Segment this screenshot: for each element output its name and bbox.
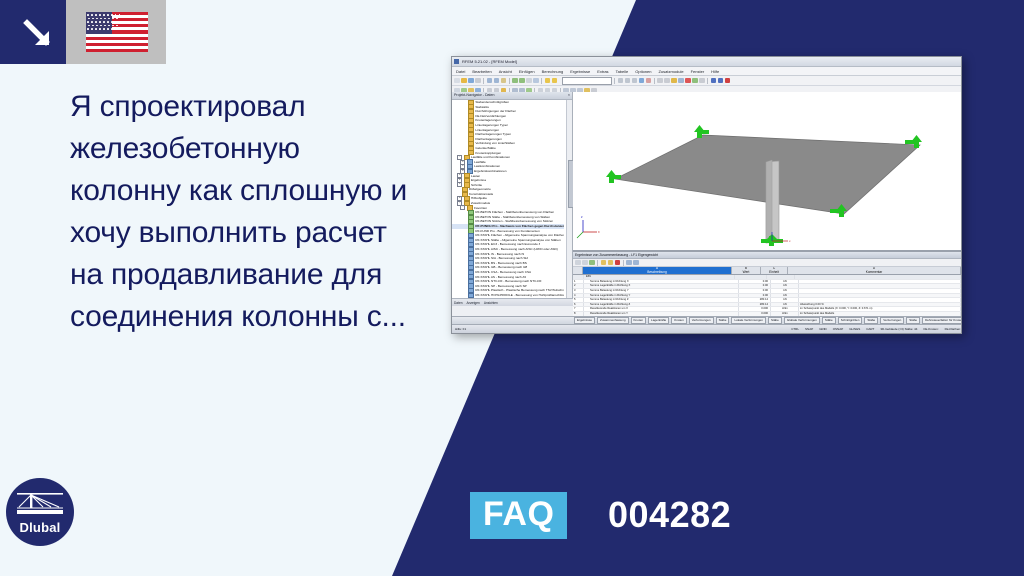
results-bottom-tab[interactable]: Stäbe bbox=[822, 317, 836, 324]
rt-button-prev[interactable] bbox=[582, 260, 588, 266]
svg-text:x: x bbox=[598, 230, 600, 234]
toolbar-button-save[interactable] bbox=[468, 78, 474, 84]
results-bottom-tab[interactable]: Ergebnisse bbox=[574, 317, 595, 324]
tree-expander-icon[interactable]: - bbox=[460, 205, 465, 210]
navigator-tree[interactable]: StabendenschnittgrößenStabsätzeDurchdrin… bbox=[452, 100, 564, 298]
nodal-support-icon bbox=[606, 170, 621, 183]
cell-comment bbox=[799, 284, 961, 288]
results-col-unit: C Einheit bbox=[761, 267, 788, 274]
navigator-tab-daten[interactable]: Daten bbox=[454, 301, 463, 305]
axis-triad-icon: x z bbox=[577, 215, 600, 238]
cell-comment bbox=[799, 289, 961, 293]
cell-index: 2 bbox=[573, 284, 584, 288]
faq-number: 004282 bbox=[608, 492, 731, 537]
cell-group-label: LF1 bbox=[584, 275, 735, 279]
navigator-tabs[interactable]: Daten Anzeigen Ansichten bbox=[452, 298, 574, 306]
cell-description: Summe Lagerkräfte in Richtung X bbox=[584, 284, 739, 288]
slide-canvas: Я спроектировал железобетонную колонну к… bbox=[0, 0, 1024, 576]
menu-item-bearbeiten[interactable]: Bearbeiten bbox=[472, 69, 491, 74]
dlubal-logo: Dlubal bbox=[6, 478, 74, 546]
cell-description: Summe Belastung in Richtung Y bbox=[584, 289, 739, 293]
headline-text: Я спроектировал железобетонную колонну к… bbox=[70, 86, 410, 338]
results-table-toolbar[interactable] bbox=[573, 259, 961, 267]
status-item-ctrl[interactable]: CTRL bbox=[791, 327, 799, 331]
toolbar-separator bbox=[597, 260, 598, 266]
results-bottom-tabs[interactable]: ErgebnisseZusammenfassungKnotenLagerkräf… bbox=[452, 316, 962, 324]
toolbar-button-layers[interactable] bbox=[671, 78, 677, 84]
rt-button-sort[interactable] bbox=[608, 260, 614, 266]
toolbar-button-section[interactable] bbox=[678, 78, 684, 84]
results-table-title: Ergebnisse von Zusammenfassung - LF1 Eig… bbox=[573, 252, 961, 259]
us-flag-icon bbox=[86, 12, 148, 52]
toolbar-button-grid[interactable] bbox=[657, 78, 663, 84]
cell-index bbox=[573, 275, 584, 279]
results-bottom-tab[interactable]: Globale Verformungen bbox=[784, 317, 820, 324]
toolbar-button-new[interactable] bbox=[454, 78, 460, 84]
toolbar-button-module1[interactable] bbox=[711, 78, 717, 84]
status-item-snap[interactable]: SNAP bbox=[805, 327, 813, 331]
toolbar-button-copy[interactable] bbox=[494, 78, 500, 84]
toolbar-button-snap[interactable] bbox=[664, 78, 670, 84]
arrow-down-right-icon bbox=[22, 18, 54, 50]
cell-index: 4 bbox=[573, 294, 584, 298]
toolbar-separator bbox=[707, 78, 708, 84]
toolbar-button-pan[interactable] bbox=[533, 78, 539, 84]
cell-index: 5 bbox=[573, 298, 584, 302]
status-info-1: 3D-Gebäude (=3) Stäbe: 44 bbox=[880, 327, 917, 331]
language-flag-box bbox=[66, 0, 166, 64]
results-bottom-tab[interactable]: Zusammenfassung bbox=[597, 317, 629, 324]
cell-description: Summe Lagerkräfte in Richtung Y bbox=[584, 294, 739, 298]
rt-button-print[interactable] bbox=[626, 260, 632, 266]
rt-button-export[interactable] bbox=[633, 260, 639, 266]
cell-value: 280.14 bbox=[739, 298, 771, 302]
rfem-title-bar: RFEM 5.21.02 - [RFEM Model] bbox=[452, 57, 962, 67]
menu-item-ansicht[interactable]: Ansicht bbox=[499, 69, 512, 74]
menu-item-fenster[interactable]: Fenster bbox=[691, 69, 705, 74]
toolbar-button-calc[interactable] bbox=[639, 78, 645, 84]
toolbar-button-module3[interactable] bbox=[725, 78, 731, 84]
cell-comment bbox=[799, 280, 961, 284]
project-navigator-panel[interactable]: Projekt-Navigator - Daten × Stabendensch… bbox=[452, 92, 573, 306]
toolbar-button-check[interactable] bbox=[692, 78, 698, 84]
model-3d-graphic: x z x bbox=[573, 92, 961, 250]
rfem-menu-bar[interactable]: Datei Bearbeiten Ansicht Einfügen Berech… bbox=[452, 67, 962, 76]
cell-value: 280.14 bbox=[739, 303, 771, 307]
cell-index: 1 bbox=[573, 280, 584, 284]
rfem-app-icon bbox=[454, 59, 459, 64]
cell-index: 6 bbox=[573, 303, 584, 307]
cell-unit: kN bbox=[771, 298, 799, 302]
results-bottom-tab[interactable]: Verformungen bbox=[689, 317, 714, 324]
menu-item-hilfe[interactable]: Hilfe bbox=[711, 69, 719, 74]
navigator-tab-ansichten[interactable]: Ansichten bbox=[484, 301, 498, 305]
toolbar-button-open[interactable] bbox=[461, 78, 467, 84]
cell-value: 0.00 bbox=[739, 289, 771, 293]
status-item-glines[interactable]: GLINES bbox=[849, 327, 860, 331]
rt-button-filter[interactable] bbox=[601, 260, 607, 266]
cell-unit: kN bbox=[771, 284, 799, 288]
model-viewport-3d[interactable]: x z x bbox=[573, 92, 961, 251]
toolbar-separator bbox=[614, 78, 615, 84]
rt-button-clear[interactable] bbox=[615, 260, 621, 266]
cell-unit bbox=[767, 275, 795, 279]
menu-item-ergebnisse[interactable]: Ergebnisse bbox=[570, 69, 590, 74]
results-table-header-row: A Beschreibung B Wert C Einheit D Kommen… bbox=[573, 267, 961, 275]
cell-description: Summe Belastung in Richtung Z bbox=[584, 298, 739, 302]
results-bottom-tab[interactable]: Knoten bbox=[671, 317, 687, 324]
toolbar-separator bbox=[483, 78, 484, 84]
navigator-title: Projekt-Navigator - Daten bbox=[454, 92, 495, 99]
svg-text:x: x bbox=[789, 239, 791, 243]
faq-badge: FAQ bbox=[470, 492, 567, 539]
cell-unit: kN bbox=[771, 280, 799, 284]
toolbar-button-redo[interactable] bbox=[519, 78, 525, 84]
cell-value: 0.000 bbox=[739, 307, 771, 311]
navigator-scrollbar[interactable] bbox=[566, 100, 572, 298]
toolbar-separator bbox=[509, 78, 510, 84]
toolbar-button-cut[interactable] bbox=[487, 78, 493, 84]
menu-item-einfuegen[interactable]: Einfügen bbox=[519, 69, 535, 74]
status-help-text: Hilfe: F1 bbox=[455, 327, 466, 331]
menu-item-tabelle[interactable]: Tabelle bbox=[616, 69, 629, 74]
navigator-tab-anzeigen[interactable]: Anzeigen bbox=[467, 301, 480, 305]
rfem-main-toolbar[interactable] bbox=[452, 76, 962, 86]
cell-comment bbox=[799, 294, 961, 298]
results-col-description: A Beschreibung bbox=[583, 267, 732, 274]
toolbar-button-delete[interactable] bbox=[685, 78, 691, 84]
cell-value: 0.00 bbox=[739, 280, 771, 284]
menu-item-berechnung[interactable]: Berechnung bbox=[542, 69, 564, 74]
menu-item-extras[interactable]: Extras bbox=[597, 69, 608, 74]
cell-value: 0.00 bbox=[739, 294, 771, 298]
cell-comment: Abweichung 0.00 % bbox=[799, 303, 961, 307]
dlubal-logo-text: Dlubal bbox=[6, 520, 74, 535]
cell-index: 3 bbox=[573, 289, 584, 293]
cell-comment: im Schwerpunkt des Modells (X: 0.000, Y:… bbox=[799, 307, 961, 311]
cell-value bbox=[735, 275, 767, 279]
results-bottom-tab[interactable]: Stäbe bbox=[906, 317, 920, 324]
results-bottom-tab[interactable]: Stäbe bbox=[768, 317, 782, 324]
toolbar-button-zoom[interactable] bbox=[526, 78, 532, 84]
toolbar-button-print[interactable] bbox=[475, 78, 481, 84]
results-col-comment: D Kommentar bbox=[788, 267, 961, 274]
menu-item-optionen[interactable]: Optionen bbox=[635, 69, 651, 74]
toolbar-separator bbox=[654, 78, 655, 84]
cell-comment bbox=[799, 298, 961, 302]
cell-value: 0.00 bbox=[739, 284, 771, 288]
toolbar-button-info[interactable] bbox=[699, 78, 705, 84]
toolbar-button-wireframe[interactable] bbox=[552, 78, 558, 84]
results-bottom-tab[interactable]: Verzerrungen bbox=[880, 317, 904, 324]
toolbar-button-view-xz[interactable] bbox=[632, 78, 638, 84]
results-bottom-tab[interactable]: Schnittgrößen bbox=[838, 317, 863, 324]
cell-unit: kN bbox=[771, 289, 799, 293]
close-icon[interactable]: × bbox=[568, 92, 570, 99]
results-bottom-tab[interactable]: Lokale Verformungen bbox=[731, 317, 766, 324]
toolbar-button-module2[interactable] bbox=[718, 78, 724, 84]
toolbar-button-paste[interactable] bbox=[501, 78, 507, 84]
results-bottom-tab[interactable]: Knoten bbox=[631, 317, 647, 324]
toolbar-separator bbox=[541, 78, 542, 84]
rt-button-next[interactable] bbox=[589, 260, 595, 266]
toolbar-separator bbox=[623, 260, 624, 266]
toolbar-button-undo[interactable] bbox=[512, 78, 518, 84]
cell-unit: kN bbox=[771, 294, 799, 298]
toolbar-button-view-xy[interactable] bbox=[625, 78, 631, 84]
rfem-application-window: RFEM 5.21.02 - [RFEM Model] Datei Bearbe… bbox=[451, 56, 962, 334]
status-info-2: FE-Knoten: bbox=[923, 327, 938, 331]
cell-index: 7 bbox=[573, 307, 584, 311]
results-col-index bbox=[573, 267, 583, 274]
rt-button-first[interactable] bbox=[575, 260, 581, 266]
results-table-window[interactable]: Ergebnisse von Zusammenfassung - LF1 Eig… bbox=[573, 251, 961, 320]
results-bottom-tab[interactable]: Dehnsteuerfaktor für Knoten bbox=[922, 317, 962, 324]
results-bottom-tab[interactable]: Stäbe bbox=[716, 317, 730, 324]
menu-item-datei[interactable]: Datei bbox=[456, 69, 465, 74]
results-bottom-tab[interactable]: Stäbe bbox=[864, 317, 878, 324]
rfem-workspace: Projekt-Navigator - Daten × Stabendensch… bbox=[452, 92, 961, 333]
navigator-header: Projekt-Navigator - Daten × bbox=[452, 92, 572, 100]
toolbar-button-view-iso[interactable] bbox=[618, 78, 624, 84]
cell-description: Summe Lagerkräfte in Richtung Z bbox=[584, 303, 739, 307]
status-item-osnap[interactable]: OSNAP bbox=[833, 327, 844, 331]
truss-bridge-icon bbox=[17, 492, 63, 518]
rfem-title-text: RFEM 5.21.02 - [RFEM Model] bbox=[462, 59, 517, 64]
cell-unit: kN bbox=[771, 303, 799, 307]
toolbar-button-render[interactable] bbox=[545, 78, 551, 84]
results-bottom-tab[interactable]: Lagerkräfte bbox=[648, 317, 669, 324]
rfem-status-bar: Hilfe: F1 CTRL SNAP GRID OSNAP GLINES CA… bbox=[452, 324, 962, 333]
cell-description: Summe Belastung in Richtung X bbox=[584, 280, 739, 284]
status-info-3: FE-Flächen: bbox=[945, 327, 961, 331]
status-item-grid[interactable]: GRID bbox=[819, 327, 827, 331]
cell-description: Resultierende Reaktionen um X bbox=[584, 307, 739, 311]
results-col-value: B Wert bbox=[732, 267, 761, 274]
cell-unit: kNm bbox=[771, 307, 799, 311]
status-item-cart[interactable]: CART bbox=[866, 327, 874, 331]
loadcase-combo[interactable] bbox=[562, 77, 612, 85]
cell-comment bbox=[795, 275, 961, 279]
toolbar-button-results[interactable] bbox=[646, 78, 652, 84]
menu-item-zusatzmodule[interactable]: Zusatzmodule bbox=[658, 69, 683, 74]
svg-text:z: z bbox=[581, 215, 583, 219]
